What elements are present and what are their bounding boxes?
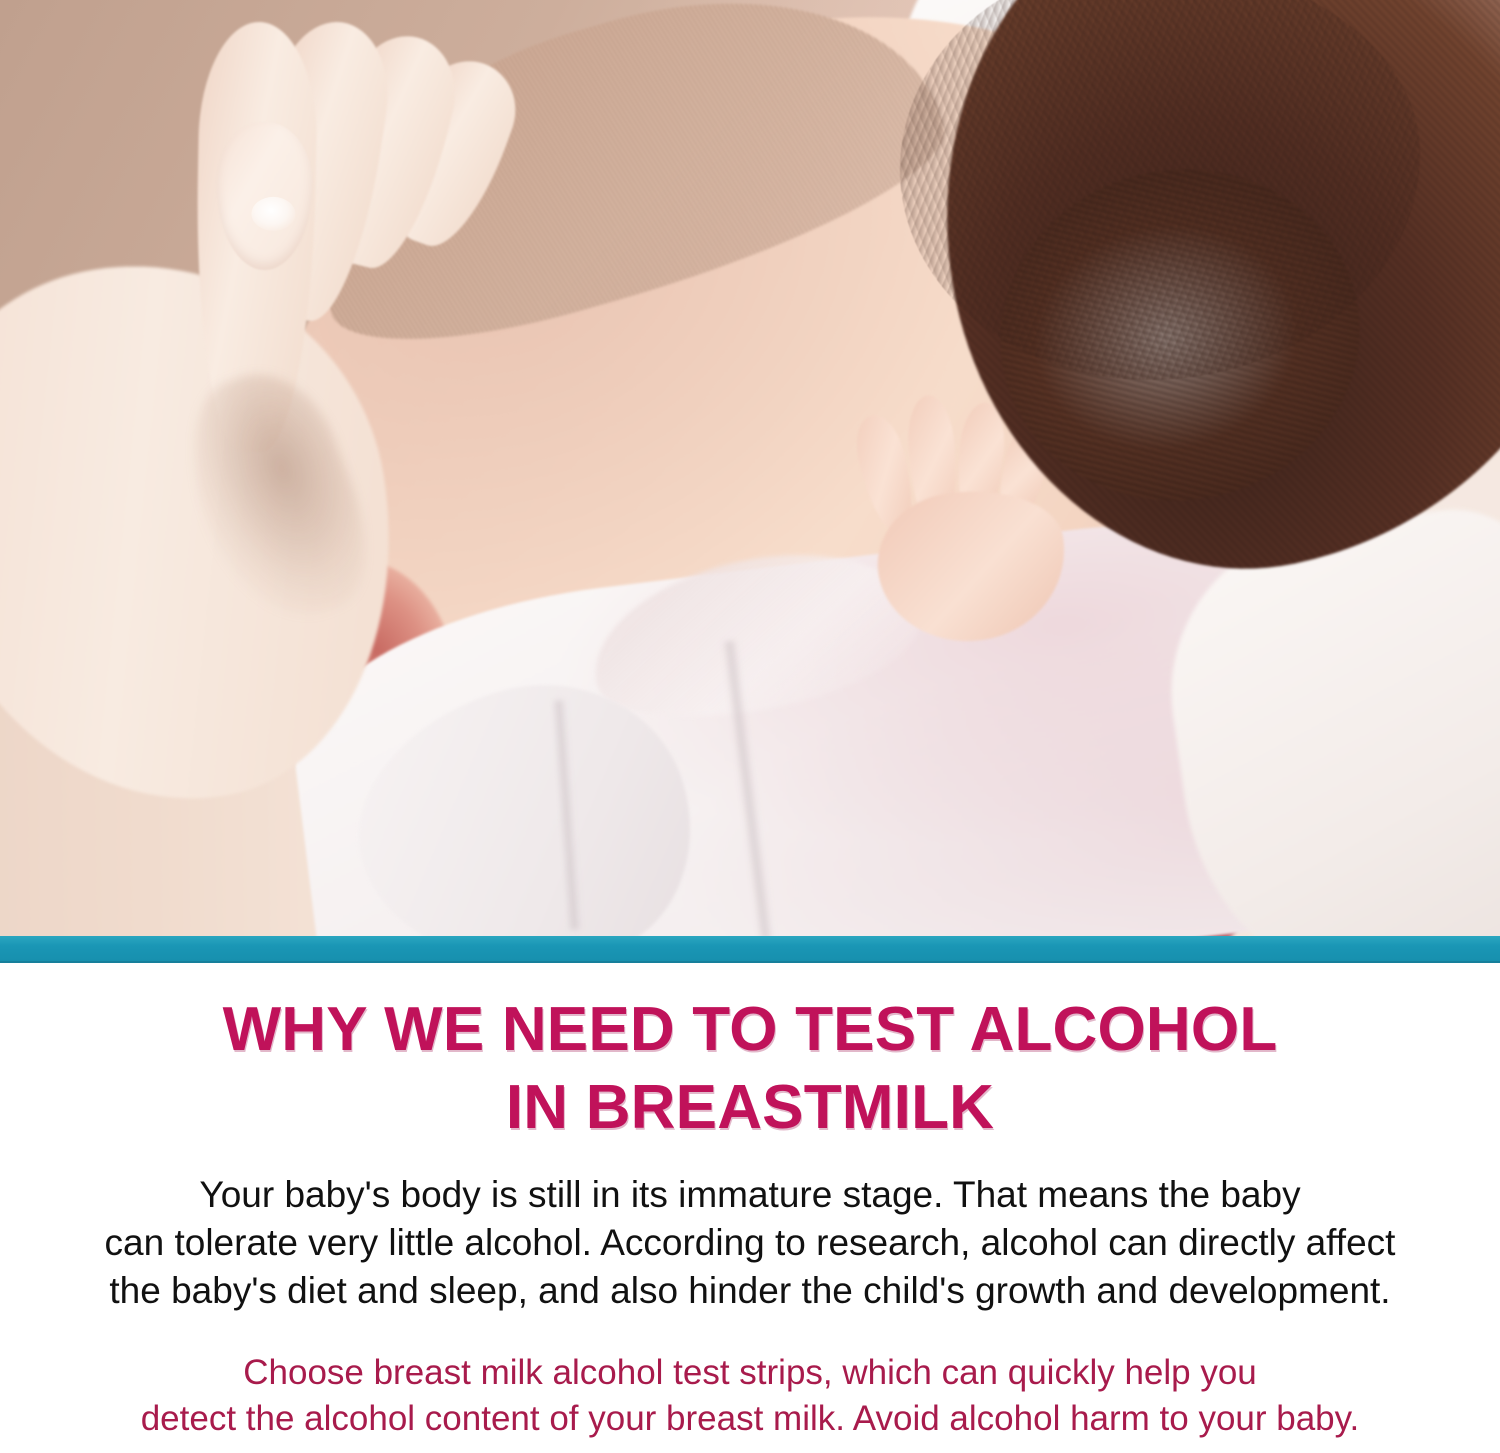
body-line-2: can tolerate very little alcohol. Accord…: [60, 1219, 1440, 1267]
body-line-3: the baby's diet and sleep, and also hind…: [60, 1267, 1440, 1315]
callout-line-2: detect the alcohol content of your breas…: [40, 1396, 1460, 1443]
mother-hand: [0, 0, 548, 826]
info-text-section: WHY WE NEED TO TEST ALCOHOL IN BREASTMIL…: [0, 963, 1500, 1453]
headline-line-1: WHY WE NEED TO TEST ALCOHOL: [0, 991, 1500, 1069]
body-paragraph: Your baby's body is still in its immatur…: [0, 1147, 1500, 1315]
product-info-banner: WHY WE NEED TO TEST ALCOHOL IN BREASTMIL…: [0, 0, 1500, 1453]
headline-line-2: IN BREASTMILK: [0, 1069, 1500, 1147]
callout-line-1: Choose breast milk alcohol test strips, …: [40, 1350, 1460, 1397]
teal-divider-bar: [0, 936, 1500, 963]
callout-paragraph: Choose breast milk alcohol test strips, …: [0, 1316, 1500, 1444]
page-title: WHY WE NEED TO TEST ALCOHOL IN BREASTMIL…: [0, 963, 1500, 1147]
body-line-1: Your baby's body is still in its immatur…: [60, 1171, 1440, 1219]
hero-photo: [0, 0, 1500, 936]
